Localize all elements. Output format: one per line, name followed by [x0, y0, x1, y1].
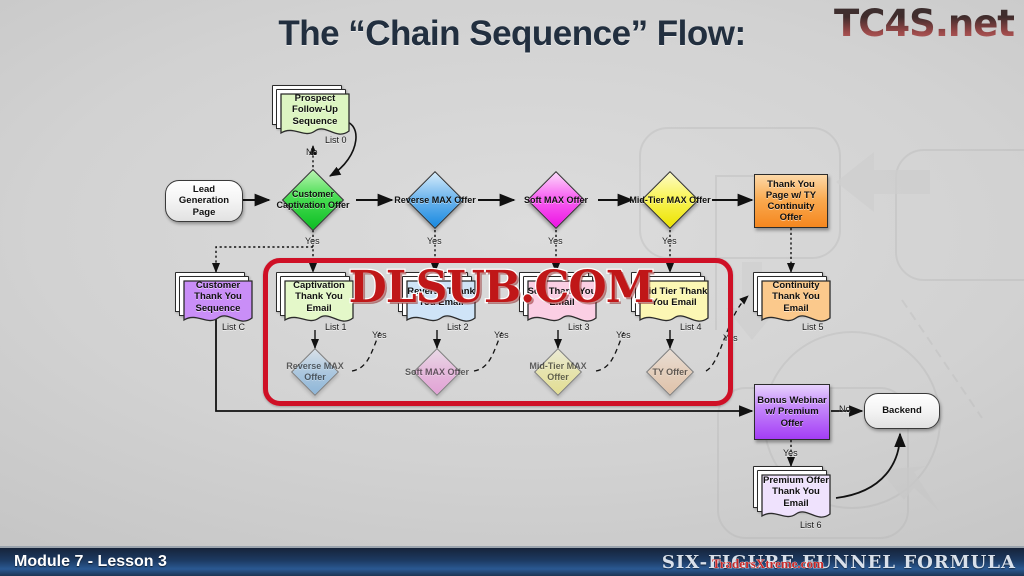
node-lead-generation-page[interactable]: Lead Generation Page: [165, 180, 243, 222]
node-reverse-max-offer[interactable]: Reverse MAX Offer: [393, 172, 477, 228]
edge-label-yes-reverse: Yes: [427, 236, 442, 246]
node-label: Customer Thank You Sequence: [183, 280, 253, 314]
list-label-list6: List 6: [800, 520, 822, 530]
node-backend[interactable]: Backend: [864, 393, 940, 429]
node-customer-captivation-offer[interactable]: Customer Captivation Offer: [269, 170, 357, 230]
edge-label-yes-bonus: Yes: [783, 448, 798, 458]
node-label: Continuity Thank You Email: [761, 280, 831, 314]
node-label: Prospect Follow-Up Sequence: [280, 93, 350, 127]
node-label: Premium Offer Thank You Email: [761, 474, 831, 510]
watermark-tradersxtreme: TradersXtreme.com: [712, 556, 824, 572]
node-label: Soft MAX Offer: [514, 172, 598, 228]
node-soft-max-offer[interactable]: Soft MAX Offer: [514, 172, 598, 228]
list-label-listC: List C: [222, 322, 245, 332]
edge-label-yes-captivation: Yes: [305, 236, 320, 246]
edge-label-yes-midtier: Yes: [662, 236, 677, 246]
node-label: Mid-Tier MAX Offer: [628, 172, 712, 228]
node-customer-thank-you-sequence[interactable]: Customer Thank You Sequence: [175, 272, 257, 324]
node-label: Reverse MAX Offer: [393, 172, 477, 228]
node-mid-tier-max-offer[interactable]: Mid-Tier MAX Offer: [628, 172, 712, 228]
edge-label-no-prospect: No: [306, 147, 318, 157]
node-label: Backend: [865, 394, 939, 428]
node-label: Customer Captivation Offer: [269, 170, 357, 230]
node-label: Thank You Page w/ TY Continuity Offer: [755, 175, 827, 227]
node-thank-you-page-continuity[interactable]: Thank You Page w/ TY Continuity Offer: [754, 174, 828, 228]
list-label-list5: List 5: [802, 322, 824, 332]
node-label: Lead Generation Page: [166, 181, 242, 221]
edge-label-yes-soft: Yes: [548, 236, 563, 246]
node-premium-offer-thank-you-email[interactable]: Premium Offer Thank You Email: [753, 466, 835, 520]
footer-bar: Module 7 - Lesson 3 SIX-FIGURE FUNNEL FO…: [0, 546, 1024, 576]
node-bonus-webinar-premium-offer[interactable]: Bonus Webinar w/ Premium Offer: [754, 384, 830, 440]
slide-canvas: The “Chain Sequence” Flow:: [0, 0, 1024, 576]
footer-module-label: Module 7 - Lesson 3: [14, 553, 167, 571]
node-label: Bonus Webinar w/ Premium Offer: [755, 385, 829, 439]
node-continuity-thank-you-email[interactable]: Continuity Thank You Email: [753, 272, 835, 324]
watermark-dlsub: DLSUB.COM: [346, 262, 656, 313]
list-label-list0: List 0: [325, 135, 347, 145]
edge-label-no-bonus: No: [839, 404, 851, 414]
node-prospect-follow-up-sequence[interactable]: Prospect Follow-Up Sequence: [272, 85, 354, 137]
